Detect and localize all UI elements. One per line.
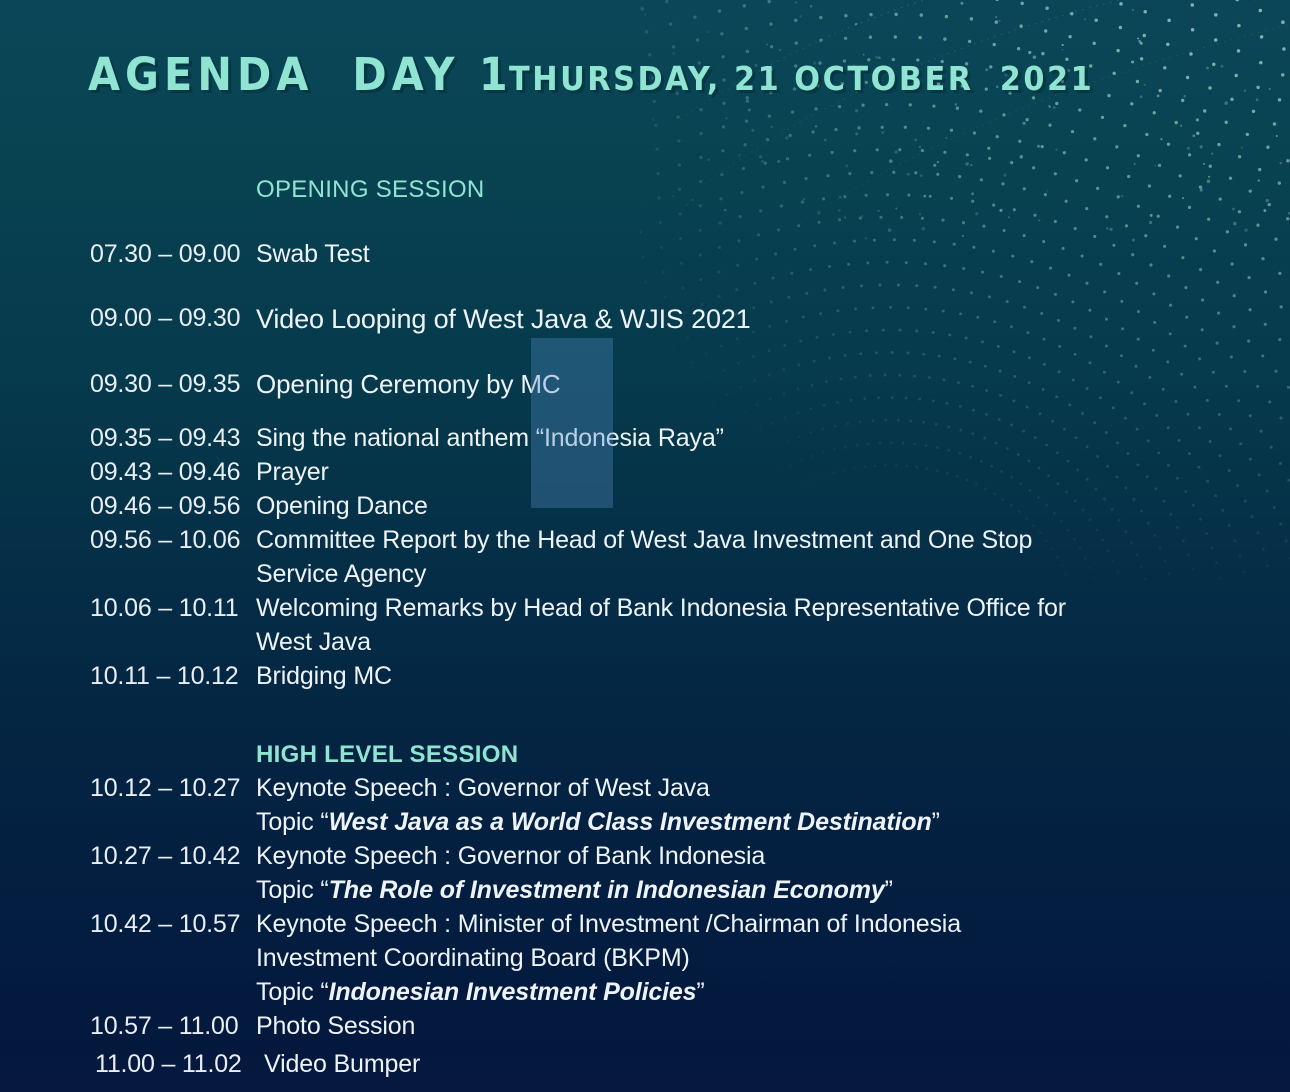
page-title: AGENDA DAY 1 (88, 52, 513, 97)
agenda-row: West Java (0, 625, 1290, 659)
topic-quote-close: ” (932, 808, 940, 836)
agenda-row-description: Investment Coordinating Board (BKPM) (256, 941, 1290, 975)
agenda-row-time: 09.43 – 09.46 (0, 455, 256, 489)
agenda-row-time: 09.30 – 09.35 (0, 367, 256, 401)
agenda-row: 10.11 – 10.12Bridging MC (0, 659, 1290, 693)
session-header-label: HIGH LEVEL SESSION (256, 739, 1290, 772)
topic-title: The Role of Investment in Indonesian Eco… (329, 876, 885, 904)
agenda-row-description: Welcoming Remarks by Head of Bank Indone… (256, 591, 1290, 625)
spacer (0, 337, 1290, 367)
agenda-row: 09.30 – 09.35Opening Ceremony by MC (0, 367, 1290, 402)
agenda-row-description: Prayer (256, 455, 1290, 489)
topic-label: Topic “ (256, 978, 329, 1006)
agenda-row-description: Swab Test (256, 237, 1290, 271)
page-subtitle: THURSDAY, 21 OCTOBER 2021 (509, 62, 1094, 95)
topic-label: Topic “ (256, 808, 329, 836)
agenda-row: Topic “Indonesian Investment Policies” (0, 975, 1290, 1009)
agenda-row: Investment Coordinating Board (BKPM) (0, 941, 1290, 975)
spacer (0, 271, 1290, 301)
agenda-row-description: Photo Session (256, 1009, 1290, 1043)
agenda-row: 10.06 – 10.11Welcoming Remarks by Head o… (0, 591, 1290, 625)
agenda-row-description: Keynote Speech : Minister of Investment … (256, 907, 1290, 941)
title-block: AGENDA DAY 1 THURSDAY, 21 OCTOBER 2021 (88, 52, 1083, 97)
agenda-row-description: Opening Ceremony by MC (256, 367, 1290, 402)
agenda-row-time: 09.00 – 09.30 (0, 301, 256, 335)
agenda-row-description: Keynote Speech : Governor of Bank Indone… (256, 839, 1290, 873)
agenda-row: 09.56 – 10.06Committee Report by the Hea… (0, 523, 1290, 557)
agenda-row-time: 10.27 – 10.42 (0, 839, 256, 873)
agenda-row-time: 07.30 – 09.00 (0, 237, 256, 271)
topic-title: West Java as a World Class Investment De… (329, 808, 932, 836)
agenda-row-description: Topic “West Java as a World Class Invest… (256, 805, 1290, 839)
agenda-row: 10.57 – 11.00Photo Session (0, 1009, 1290, 1043)
agenda-row-description: Opening Dance (256, 489, 1290, 523)
session-header-label: OPENING SESSION (256, 174, 1290, 207)
agenda-row: 09.00 – 09.30Video Looping of West Java … (0, 301, 1290, 338)
agenda-row: 11.00 – 11.02Video Bumper (0, 1047, 1290, 1081)
agenda-row-description: Sing the national anthem “Indonesia Raya… (256, 421, 1290, 455)
topic-quote-close: ” (885, 876, 893, 904)
agenda-row-description: Video Bumper (256, 1047, 1290, 1081)
agenda-list: OPENING SESSION07.30 – 09.00Swab Test09.… (0, 174, 1290, 1081)
topic-title: Indonesian Investment Policies (329, 978, 697, 1006)
agenda-row-description: Service Agency (256, 557, 1290, 591)
session-header-row: HIGH LEVEL SESSION (0, 739, 1290, 772)
agenda-row: 10.12 – 10.27Keynote Speech : Governor o… (0, 771, 1290, 805)
agenda-row-time: 10.12 – 10.27 (0, 771, 256, 805)
agenda-row-time: 10.42 – 10.57 (0, 907, 256, 941)
agenda-row-description: Bridging MC (256, 659, 1290, 693)
topic-label: Topic “ (256, 876, 329, 904)
agenda-row-description: Video Looping of West Java & WJIS 2021 (256, 301, 1290, 338)
agenda-row: 09.46 – 09.56Opening Dance (0, 489, 1290, 523)
agenda-row-description: Keynote Speech : Governor of West Java (256, 771, 1290, 805)
agenda-row: Topic “The Role of Investment in Indones… (0, 873, 1290, 907)
agenda-row: 10.27 – 10.42Keynote Speech : Governor o… (0, 839, 1290, 873)
spacer (0, 693, 1290, 739)
agenda-row-time: 09.56 – 10.06 (0, 523, 256, 557)
agenda-row-time: 09.35 – 09.43 (0, 421, 256, 455)
agenda-row-description: Topic “The Role of Investment in Indones… (256, 873, 1290, 907)
spacer (0, 403, 1290, 421)
agenda-row-time: 10.06 – 10.11 (0, 591, 256, 625)
topic-quote-close: ” (696, 978, 704, 1006)
agenda-row: Topic “West Java as a World Class Invest… (0, 805, 1290, 839)
agenda-row-description: West Java (256, 625, 1290, 659)
agenda-row: 09.43 – 09.46Prayer (0, 455, 1290, 489)
agenda-row-time: 10.57 – 11.00 (0, 1009, 256, 1043)
agenda-row: Service Agency (0, 557, 1290, 591)
spacer (0, 207, 1290, 237)
agenda-row: 10.42 – 10.57Keynote Speech : Minister o… (0, 907, 1290, 941)
agenda-row-description: Topic “Indonesian Investment Policies” (256, 975, 1290, 1009)
agenda-row-time: 11.00 – 11.02 (0, 1047, 256, 1081)
session-header-row: OPENING SESSION (0, 174, 1290, 207)
agenda-row-time: 09.46 – 09.56 (0, 489, 256, 523)
agenda-row-time: 10.11 – 10.12 (0, 659, 256, 693)
agenda-row: 09.35 – 09.43Sing the national anthem “I… (0, 421, 1290, 455)
agenda-row-description: Committee Report by the Head of West Jav… (256, 523, 1290, 557)
agenda-row: 07.30 – 09.00Swab Test (0, 237, 1290, 271)
agenda-slide: AGENDA DAY 1 THURSDAY, 21 OCTOBER 2021 O… (0, 0, 1290, 1092)
